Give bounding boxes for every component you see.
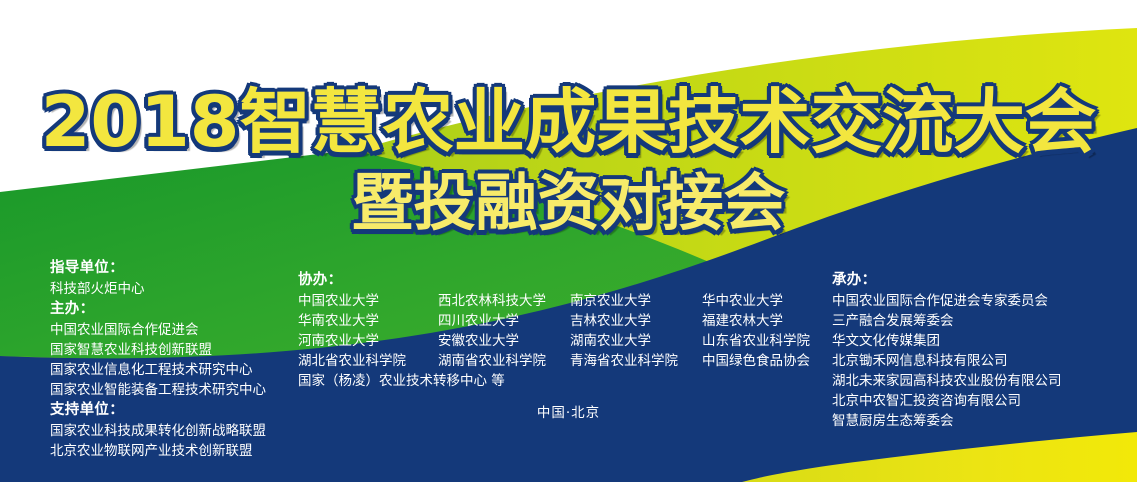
support-item: 北京农业物联网产业技术创新联盟: [50, 441, 266, 461]
credits-area: 指导单位： 科技部火炬中心 主办： 中国农业国际合作促进会 国家智慧农业科技创新…: [0, 0, 1137, 482]
undertaker-item: 中国农业国际合作促进会专家委员会: [832, 291, 1062, 311]
organizer-item: 国家智慧农业科技创新联盟: [50, 340, 266, 360]
coorganizer-item: 安徽农业大学: [438, 331, 570, 351]
credits-column-coorganizer: 协办： 中国农业大学 西北农林科技大学 南京农业大学 华中农业大学 华南农业大学…: [298, 270, 810, 391]
coorganizer-item: 湖南省农业科学院: [438, 351, 570, 371]
conference-banner: 2018智慧农业成果技术交流大会 暨投融资对接会 指导单位： 科技部火炬中心 主…: [0, 0, 1137, 482]
coorganizer-item: 中国绿色食品协会: [702, 351, 810, 371]
undertaker-heading: 承办：: [832, 270, 1062, 291]
coorganizer-item: 四川农业大学: [438, 311, 570, 331]
coorganizer-item: 华中农业大学: [702, 291, 810, 311]
organizer-item: 国家农业信息化工程技术研究中心: [50, 360, 266, 380]
coorganizer-item: 青海省农业科学院: [570, 351, 702, 371]
coorganizer-heading: 协办：: [298, 270, 810, 291]
coorganizer-item: 吉林农业大学: [570, 311, 702, 331]
undertaker-item: 三产融合发展筹委会: [832, 311, 1062, 331]
coorganizer-item: 西北农林科技大学: [438, 291, 570, 311]
location-label: 中国·北京: [0, 404, 1137, 422]
undertaker-item: 湖北未来家园高科技农业股份有限公司: [832, 371, 1062, 391]
coorganizer-item: 湖南农业大学: [570, 331, 702, 351]
coorganizer-item: 中国农业大学: [298, 291, 438, 311]
coorganizer-item: 华南农业大学: [298, 311, 438, 331]
coorganizer-item: 河南农业大学: [298, 331, 438, 351]
guidance-item: 科技部火炬中心: [50, 279, 266, 299]
coorganizer-item: 山东省农业科学院: [702, 331, 810, 351]
organizer-item: 国家农业智能装备工程技术研究中心: [50, 380, 266, 400]
guidance-heading: 指导单位：: [50, 258, 266, 279]
coorganizer-grid: 中国农业大学 西北农林科技大学 南京农业大学 华中农业大学 华南农业大学 四川农…: [298, 291, 810, 371]
coorganizer-item: 福建农林大学: [702, 311, 810, 331]
coorganizer-item: 湖北省农业科学院: [298, 351, 438, 371]
support-item: 国家农业科技成果转化创新战略联盟: [50, 421, 266, 441]
credits-column-left: 指导单位： 科技部火炬中心 主办： 中国农业国际合作促进会 国家智慧农业科技创新…: [50, 258, 266, 461]
coorganizer-tail: 国家（杨凌）农业技术转移中心 等: [298, 371, 810, 391]
organizer-heading: 主办：: [50, 299, 266, 320]
organizer-item: 中国农业国际合作促进会: [50, 320, 266, 340]
coorganizer-item: 南京农业大学: [570, 291, 702, 311]
undertaker-item: 华文文化传媒集团: [832, 331, 1062, 351]
undertaker-item: 北京锄禾网信息科技有限公司: [832, 351, 1062, 371]
